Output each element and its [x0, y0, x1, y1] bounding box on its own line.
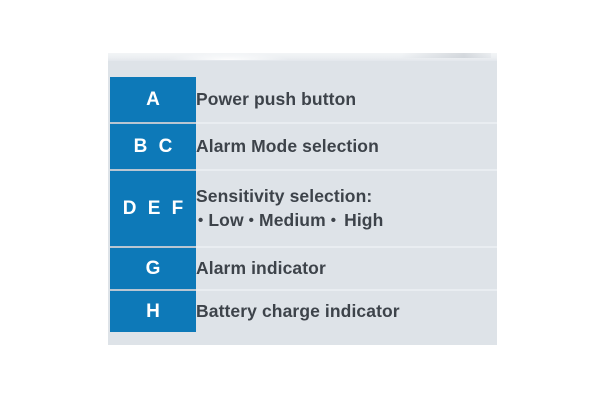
bullet-icon-low: • — [196, 211, 205, 231]
panel-top-glow — [168, 53, 288, 60]
legend-description-def: Sensitivity selection: •Low•Medium•High — [196, 170, 497, 247]
legend-key-def: D E F — [110, 170, 196, 247]
table-row: B C Alarm Mode selection — [110, 123, 497, 170]
legend-key-a: A — [110, 77, 196, 123]
sensitivity-option-low: Low — [205, 209, 246, 232]
sensitivity-options: •Low•Medium•High — [196, 209, 497, 232]
legend-panel: A Power push button B C Alarm Mode selec… — [108, 53, 497, 345]
sensitivity-option-high: High — [338, 209, 386, 232]
legend-table: A Power push button B C Alarm Mode selec… — [110, 77, 497, 332]
bullet-icon-medium: • — [247, 211, 256, 231]
table-row: D E F Sensitivity selection: •Low•Medium… — [110, 170, 497, 247]
table-row: A Power push button — [110, 77, 497, 123]
screenshot-root: A Power push button B C Alarm Mode selec… — [0, 0, 600, 400]
legend-description-h: Battery charge indicator — [196, 290, 497, 332]
table-row: H Battery charge indicator — [110, 290, 497, 332]
bullet-icon-high: • — [329, 211, 338, 231]
panel-top-highlight-band — [108, 53, 497, 61]
legend-description-bc: Alarm Mode selection — [196, 123, 497, 170]
panel-top-shadow — [401, 53, 491, 58]
legend-key-h: H — [110, 290, 196, 332]
legend-description-a: Power push button — [196, 77, 497, 123]
legend-description-g: Alarm indicator — [196, 247, 497, 290]
sensitivity-option-medium: Medium — [256, 209, 329, 232]
sensitivity-label: Sensitivity selection: — [196, 186, 372, 206]
legend-key-bc: B C — [110, 123, 196, 170]
table-row: G Alarm indicator — [110, 247, 497, 290]
legend-key-g: G — [110, 247, 196, 290]
